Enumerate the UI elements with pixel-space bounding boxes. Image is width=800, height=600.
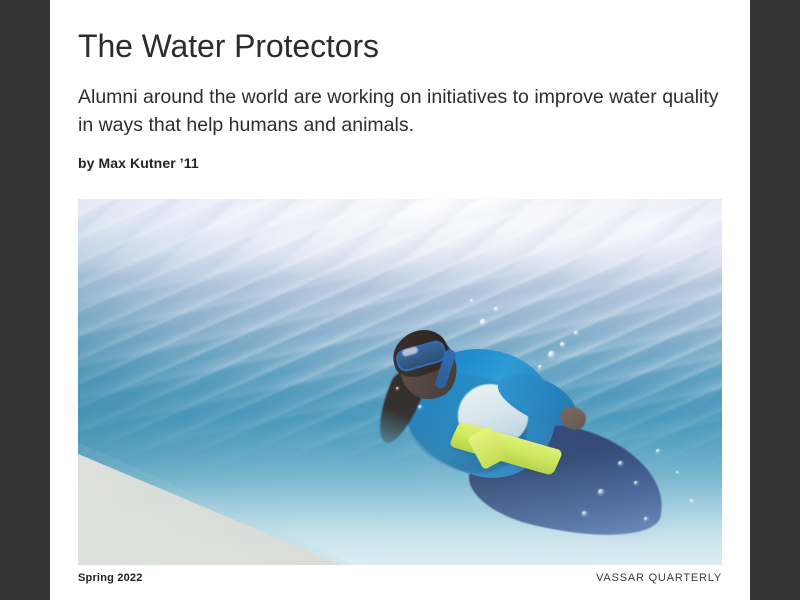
bubble [480,319,486,325]
bubble [574,331,578,335]
swimmer-figure [378,331,658,565]
magazine-page: The Water Protectors Alumni around the w… [50,0,750,600]
bubble [560,342,565,347]
bubble [396,387,399,390]
footer-publication: VASSAR QUARTERLY [596,572,722,584]
bubble [656,449,660,453]
article-deck: Alumni around the world are working on i… [78,83,723,140]
page-title: The Water Protectors [78,28,726,65]
bubble [598,489,604,495]
bubble [470,299,473,302]
article-photo [78,199,722,565]
page-gutter-left [0,0,50,600]
bubble [644,517,648,521]
article-header: The Water Protectors Alumni around the w… [78,28,726,171]
bubble [548,351,555,358]
bubble [618,461,623,466]
screenshot-viewport: The Water Protectors Alumni around the w… [0,0,800,600]
bubble [494,307,498,311]
page-gutter-right [750,0,800,600]
bubble [690,499,694,503]
bubble [538,365,542,369]
article-byline: by Max Kutner ’11 [78,155,726,171]
bubble [582,511,587,516]
bubble [418,405,422,409]
footer-issue: Spring 2022 [78,572,143,584]
page-footer: Spring 2022 VASSAR QUARTERLY [78,572,722,584]
bubble [676,471,679,474]
bubble [634,481,638,485]
